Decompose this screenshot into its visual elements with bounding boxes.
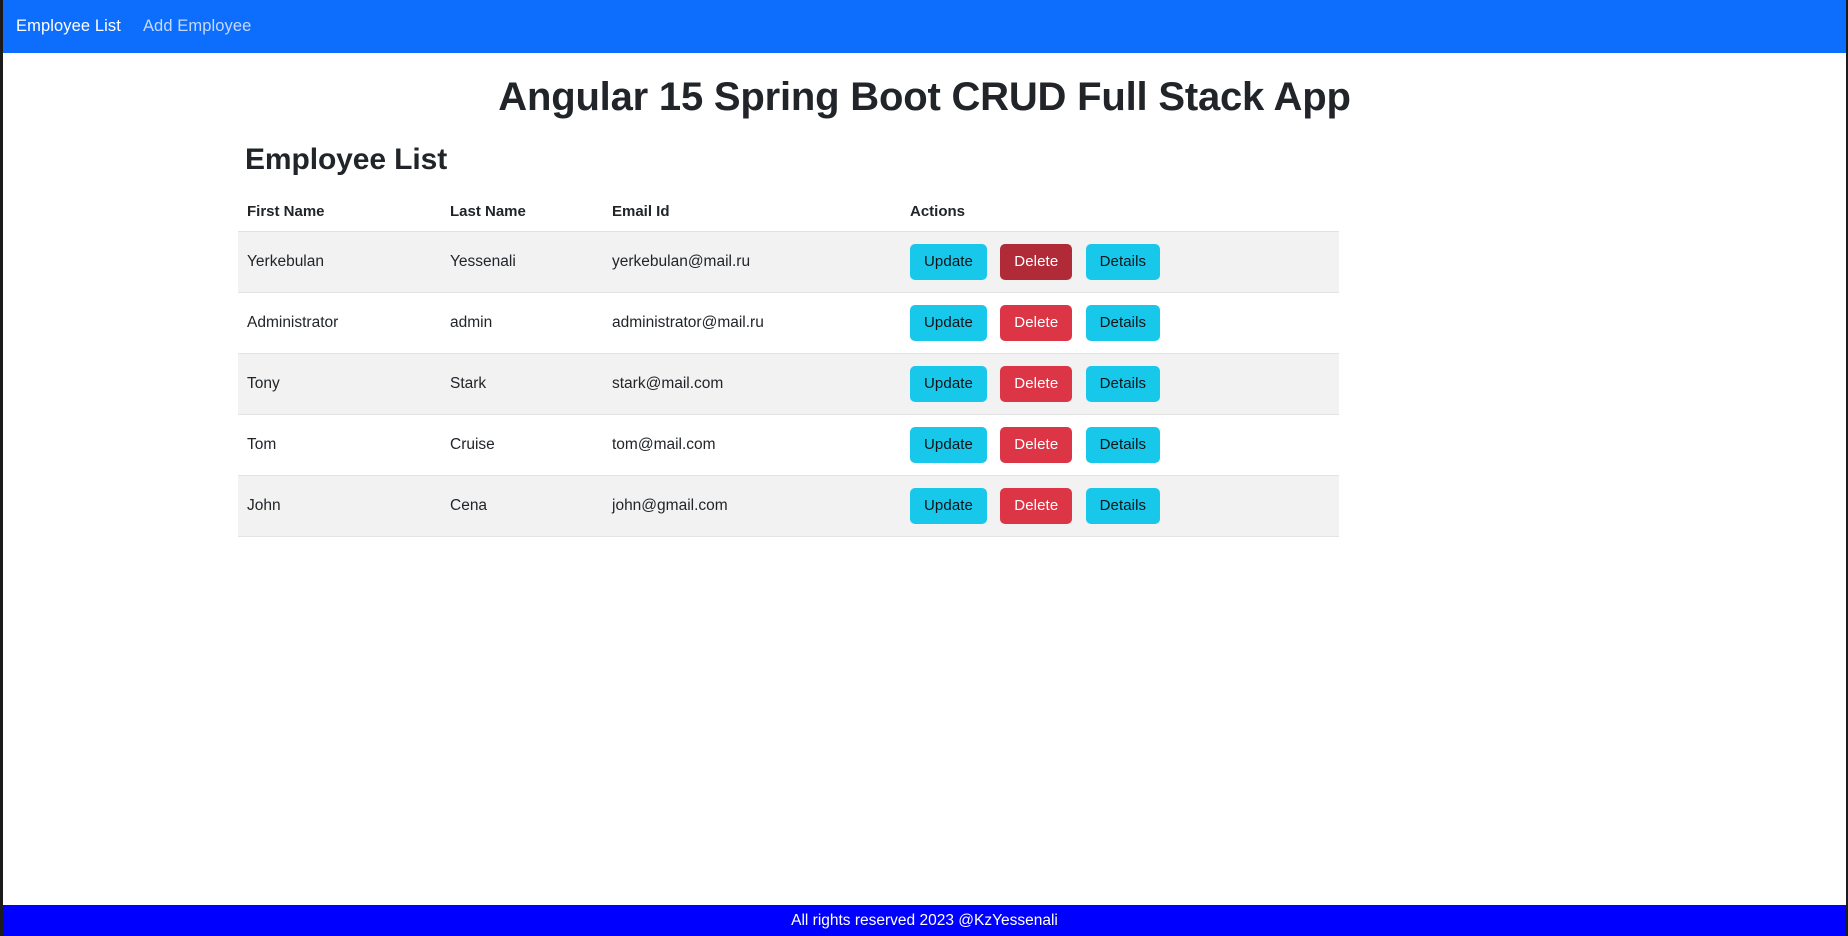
cell-first-name: Administrator	[238, 293, 441, 354]
update-button[interactable]: Update	[910, 305, 987, 341]
main-content: Employee List First Name Last Name Email…	[238, 143, 1538, 537]
cell-first-name: Tom	[238, 415, 441, 476]
column-header-last-name: Last Name	[441, 193, 603, 232]
nav-link-add-employee[interactable]: Add Employee	[141, 14, 254, 39]
cell-actions: Update Delete Details	[901, 293, 1339, 354]
update-button[interactable]: Update	[910, 366, 987, 402]
delete-button[interactable]: Delete	[1000, 244, 1072, 280]
cell-last-name: Stark	[441, 354, 603, 415]
details-button[interactable]: Details	[1086, 244, 1161, 280]
update-button[interactable]: Update	[910, 244, 987, 280]
update-button[interactable]: Update	[910, 427, 987, 463]
update-button[interactable]: Update	[910, 488, 987, 524]
cell-actions: Update Delete Details	[901, 476, 1339, 537]
details-button[interactable]: Details	[1086, 305, 1161, 341]
cell-last-name: Cena	[441, 476, 603, 537]
delete-button[interactable]: Delete	[1000, 488, 1072, 524]
column-header-email-id: Email Id	[603, 193, 901, 232]
table-body: Yerkebulan Yessenali yerkebulan@mail.ru …	[238, 232, 1339, 537]
cell-email: yerkebulan@mail.ru	[603, 232, 901, 293]
cell-first-name: Yerkebulan	[238, 232, 441, 293]
cell-actions: Update Delete Details	[901, 232, 1339, 293]
table-row: John Cena john@gmail.com Update Delete D…	[238, 476, 1339, 537]
cell-email: administrator@mail.ru	[603, 293, 901, 354]
cell-actions: Update Delete Details	[901, 354, 1339, 415]
table-header-row: First Name Last Name Email Id Actions	[238, 193, 1339, 232]
cell-email: stark@mail.com	[603, 354, 901, 415]
cell-email: john@gmail.com	[603, 476, 901, 537]
nav-link-employee-list[interactable]: Employee List	[14, 14, 123, 39]
page-title: Angular 15 Spring Boot CRUD Full Stack A…	[129, 73, 1721, 121]
page-wrapper: Angular 15 Spring Boot CRUD Full Stack A…	[129, 73, 1721, 121]
table-row: Tom Cruise tom@mail.com Update Delete De…	[238, 415, 1339, 476]
delete-button[interactable]: Delete	[1000, 427, 1072, 463]
details-button[interactable]: Details	[1086, 366, 1161, 402]
top-navbar: Employee List Add Employee	[3, 0, 1846, 53]
cell-last-name: admin	[441, 293, 603, 354]
details-button[interactable]: Details	[1086, 427, 1161, 463]
delete-button[interactable]: Delete	[1000, 305, 1072, 341]
column-header-first-name: First Name	[238, 193, 441, 232]
cell-first-name: Tony	[238, 354, 441, 415]
table-row: Administrator admin administrator@mail.r…	[238, 293, 1339, 354]
cell-actions: Update Delete Details	[901, 415, 1339, 476]
details-button[interactable]: Details	[1086, 488, 1161, 524]
browser-viewport: Employee List Add Employee Angular 15 Sp…	[0, 0, 1848, 936]
cell-last-name: Yessenali	[441, 232, 603, 293]
column-header-actions: Actions	[901, 193, 1339, 232]
cell-first-name: John	[238, 476, 441, 537]
cell-email: tom@mail.com	[603, 415, 901, 476]
page-footer: All rights reserved 2023 @KzYessenali	[3, 905, 1846, 936]
cell-last-name: Cruise	[441, 415, 603, 476]
employee-table: First Name Last Name Email Id Actions Ye…	[238, 193, 1339, 537]
table-head: First Name Last Name Email Id Actions	[238, 193, 1339, 232]
footer-text: All rights reserved 2023 @KzYessenali	[791, 912, 1058, 930]
table-row: Tony Stark stark@mail.com Update Delete …	[238, 354, 1339, 415]
delete-button[interactable]: Delete	[1000, 366, 1072, 402]
section-title-employee-list: Employee List	[245, 143, 1538, 177]
table-row: Yerkebulan Yessenali yerkebulan@mail.ru …	[238, 232, 1339, 293]
